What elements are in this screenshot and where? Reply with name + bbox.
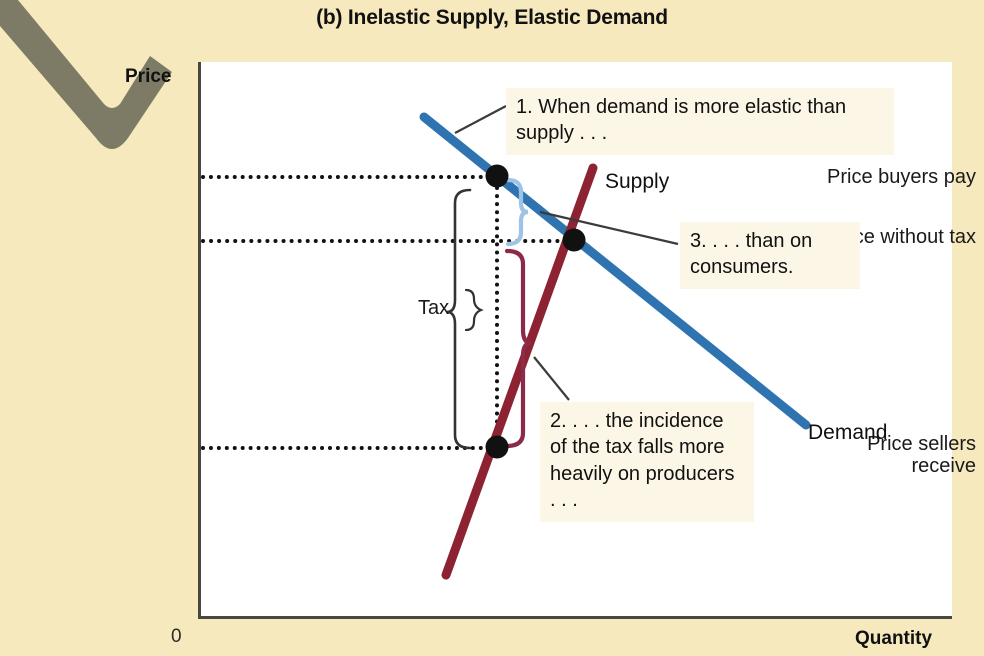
guideline-price-without-tax xyxy=(201,239,576,243)
demand-curve-label: Demand xyxy=(808,421,887,445)
callout-note-2: 2. . . . the incidence of the tax falls … xyxy=(540,402,754,522)
callout-note-3: 3. . . . than on consumers. xyxy=(680,222,860,289)
guideline-quantity-with-tax xyxy=(495,178,499,448)
callout-note-1: 1. When demand is more elastic than supp… xyxy=(506,88,894,155)
tax-bracket-label: Tax xyxy=(418,297,449,320)
y-axis-title: Price xyxy=(125,66,171,88)
y-axis xyxy=(198,62,201,619)
y-label-price-buyers-pay: Price buyers pay xyxy=(788,166,984,188)
guideline-price-sellers-receive xyxy=(201,446,499,450)
page-title: (b) Inelastic Supply, Elastic Demand xyxy=(0,6,984,30)
figure-inelastic-supply-elastic-demand: (b) Inelastic Supply, Elastic Demand Pri… xyxy=(0,0,984,656)
origin-label: 0 xyxy=(171,626,182,648)
x-axis xyxy=(198,616,952,619)
x-axis-title: Quantity xyxy=(855,628,932,650)
supply-curve-label: Supply xyxy=(605,170,669,194)
guideline-price-buyers-pay xyxy=(201,175,499,179)
